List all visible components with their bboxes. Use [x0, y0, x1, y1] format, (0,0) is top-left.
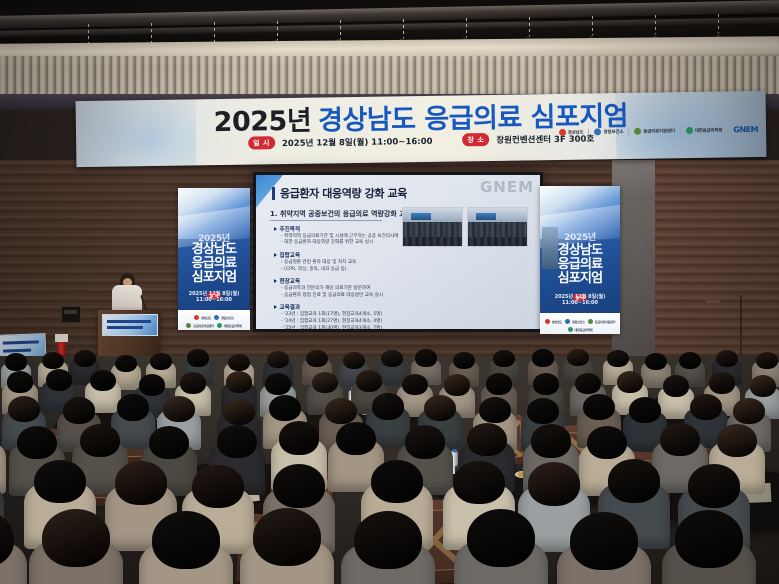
audience-member [557, 512, 651, 584]
logo-mark [594, 128, 601, 135]
slide-bullet-line: - '25년 : 집합교육 1회(30명), 현장교육3개소, 7명) [274, 326, 424, 329]
person-head [675, 510, 743, 568]
person-head [192, 465, 244, 509]
person-head [217, 425, 257, 458]
person-head [467, 509, 535, 567]
logo-mark [588, 319, 593, 324]
standee-date-right: 2025년 12월 8일(월) [540, 293, 620, 300]
person-head [372, 393, 404, 419]
training-photo-right [467, 207, 528, 247]
person-head [688, 464, 740, 508]
person-head [527, 398, 559, 424]
person-head [570, 512, 638, 570]
conference-photo: 2025년경상남도 응급의료 심포지엄 일 시 2025년 12월 8일(월) … [0, 0, 779, 584]
triangle-bullet-icon [274, 279, 277, 283]
person-head [453, 352, 475, 369]
standee-logos-left: 경상남도창원보건소응급의료지원센터대한응급의학회 [178, 315, 250, 328]
association-logo: 대한응급의학회 [686, 127, 723, 135]
person-head [356, 370, 382, 392]
slide-title-text: 응급환자 대응역량 강화 교육 [280, 185, 407, 201]
person-head [381, 350, 403, 367]
person-head [63, 397, 95, 423]
person-head [8, 396, 40, 422]
person-head [354, 511, 422, 569]
person-head [253, 508, 321, 566]
person-head [607, 350, 629, 367]
person-head [42, 509, 110, 567]
person-head [139, 374, 165, 396]
person-head [163, 396, 195, 422]
person-head [267, 351, 289, 368]
logo-separator [727, 126, 728, 133]
logo-mark [686, 127, 693, 134]
wall-control-panel[interactable] [61, 306, 81, 323]
person-head [444, 374, 470, 396]
person-head [279, 421, 319, 454]
slide-bullet-line: - 응급질환 관련 환자 대응 및 처치 교육 [274, 260, 424, 267]
triangle-bullet-icon [274, 253, 277, 257]
person-head [5, 353, 27, 370]
person-head [371, 460, 423, 504]
person-head [709, 372, 735, 394]
standee-logos-right: 경상남도창원보건소응급의료지원센터대한응급의학회 [540, 319, 620, 332]
logo-label: 경상남도 [201, 316, 211, 320]
standee-year-right: 2025년 [540, 230, 620, 243]
standee-health-center-logo: 창원보건소 [565, 319, 585, 324]
slide-title: 응급환자 대응역량 강화 교육 [272, 185, 407, 201]
slide-section-heading: 1. 취약지역 공중보건의 응급의료 역량강화 교육 [270, 209, 412, 219]
person-head [660, 423, 700, 456]
person-head [717, 424, 757, 457]
person-head [479, 397, 511, 423]
person-head [187, 349, 209, 366]
gnem-wordmark: GNEM [733, 125, 758, 134]
logo-mark [186, 323, 191, 328]
audience-member [29, 509, 123, 584]
logo-mark [634, 128, 641, 135]
person-head [575, 373, 601, 395]
audience-member [454, 509, 548, 584]
person-head [528, 462, 580, 506]
gnem-logo: GNEM [733, 125, 758, 134]
main-banner: 2025년경상남도 응급의료 심포지엄 일 시 2025년 12월 8일(월) … [76, 91, 767, 167]
slide-bullet-heading: 현장교육 [274, 277, 424, 285]
standee-medical-support-logo: 응급의료지원센터 [588, 319, 615, 324]
medical-support-logo: 응급의료지원센터 [634, 127, 675, 135]
logo-separator [588, 129, 589, 136]
person-head [424, 395, 456, 421]
banner-date-text: 2025년 12월 8일(월) 11:00~16:00 [282, 134, 433, 148]
person-head [312, 372, 338, 394]
person-head [34, 460, 86, 504]
triangle-bullet-icon [274, 305, 277, 309]
slide-heading-text: 집합교육 [280, 251, 301, 259]
person-head [750, 375, 776, 397]
presentation-slide: GNEM 응급환자 대응역량 강화 교육 1. 취약지역 공중보건의 응급의료 … [256, 175, 540, 329]
logo-label: 대한응급의학회 [695, 127, 723, 133]
logo-mark [194, 315, 199, 320]
banner-place-chip: 장 소 [462, 133, 489, 146]
door-handle [706, 300, 720, 303]
standee-left: 2025년 경상남도 응급의료 심포지엄 일 시 2025년 12월 8일(월)… [178, 188, 250, 330]
person-head [467, 423, 507, 456]
person-head [532, 349, 554, 366]
standee-association-logo: 대한응급의학회 [217, 323, 242, 328]
podium-signboard [102, 314, 158, 336]
standee-title-left: 경상남도 응급의료 심포지엄 [178, 243, 250, 285]
person-head [117, 394, 149, 420]
logo-label: 응급의료지원센터 [595, 320, 615, 324]
logo-label: 응급의료지원센터 [643, 128, 675, 134]
training-photo-left [402, 207, 463, 247]
person-head [587, 426, 627, 459]
logo-mark [568, 327, 573, 332]
banner-year: 2025년 [213, 106, 311, 138]
banner-date-chip: 일 시 [248, 136, 275, 149]
person-head [336, 422, 376, 455]
standee-gyeongnam-logo: 경상남도 [194, 315, 211, 320]
person-head [269, 395, 301, 421]
person-head [228, 354, 250, 371]
slide-bullet-heading: 집합교육 [274, 251, 424, 259]
person-head [679, 352, 701, 369]
door-edge [740, 295, 742, 357]
person-head [7, 371, 33, 393]
logo-separator [628, 128, 629, 135]
person-head [402, 374, 428, 396]
audience-member [662, 510, 756, 584]
person-head [90, 370, 116, 392]
logo-label: 대한응급의학회 [575, 328, 593, 332]
standee-date-left: 2025년 12월 8일(월) [178, 290, 250, 297]
person-head [583, 394, 615, 420]
logo-label: 경상남도 [568, 129, 584, 135]
logo-label: 대한응급의학회 [224, 324, 242, 328]
person-head [273, 464, 325, 508]
person-head [415, 349, 437, 366]
person-head [531, 424, 571, 457]
slide-bullet-line: - 응급환자 접점 진료 및 응급의료 대응방안 교육 실시 [274, 293, 424, 300]
slide-bullet-line: - (CPR, 외상, 중독, 내과 응급 등) [274, 267, 424, 274]
person-head [567, 349, 589, 366]
standee-right: 2025년 경상남도 응급의료 심포지엄 일 시 2025년 12월 8일(월)… [540, 186, 620, 334]
person-head [486, 373, 512, 395]
audience-member [139, 511, 233, 584]
fire-extinguisher-sign [55, 334, 68, 342]
standee-health-center-logo: 창원보건소 [214, 315, 234, 320]
person-head [733, 398, 765, 424]
slide-bullet-heading: 교육결과 [274, 303, 424, 311]
person-head [716, 350, 738, 367]
person-head [690, 394, 722, 420]
standee-line2-right: 응급의료 [540, 258, 620, 272]
person-head [180, 372, 206, 394]
logo-mark [565, 319, 570, 324]
logo-label: 응급의료지원센터 [193, 324, 213, 328]
person-head [629, 397, 661, 423]
logo-label: 창원보건소 [604, 129, 624, 135]
logo-label: 창원보건소 [572, 320, 585, 324]
person-head [223, 399, 255, 425]
person-head [149, 426, 189, 459]
person-head [152, 511, 220, 569]
gyeongnam-logo: 경상남도 [559, 129, 584, 136]
audience-member [0, 510, 27, 584]
person-head [150, 353, 172, 370]
projection-screen: GNEM 응급환자 대응역량 강화 교육 1. 취약지역 공중보건의 응급의료 … [253, 172, 543, 332]
person-head [17, 426, 57, 459]
person-head [343, 352, 365, 369]
person-head [42, 352, 64, 369]
standee-gyeongnam-logo: 경상남도 [545, 319, 562, 324]
logo-mark [217, 323, 222, 328]
slide-heading-text: 교육결과 [280, 303, 301, 311]
logo-label: 창원보건소 [221, 316, 234, 320]
slide-bullet-line: - 응급의학과 전문의가 해당 의료기관 방문하여 [274, 286, 424, 293]
logo-mark [545, 319, 550, 324]
standee-medical-support-logo: 응급의료지원센터 [186, 323, 213, 328]
person-head [405, 425, 445, 458]
slide-heading-text: 추진목적 [280, 225, 301, 233]
person-head [756, 352, 778, 369]
triangle-bullet-icon [274, 227, 277, 231]
person-head [265, 373, 291, 395]
wall-wood-right [655, 160, 779, 365]
standee-title-right: 경상남도 응급의료 심포지엄 [540, 244, 620, 286]
logo-mark [559, 129, 566, 136]
person-head [115, 461, 167, 505]
standee-line1-right: 경상남도 [540, 244, 620, 258]
person-head [493, 350, 515, 367]
person-head [608, 459, 660, 503]
gnem-watermark: GNEM [480, 178, 534, 196]
person-head [74, 350, 96, 367]
person-head [226, 371, 252, 393]
person-head [46, 369, 72, 391]
standee-association-logo: 대한응급의학회 [568, 327, 593, 332]
person-head [325, 398, 357, 424]
person-head [645, 353, 667, 370]
audience-member [240, 508, 334, 584]
audience-member [341, 511, 435, 584]
person-head [306, 350, 328, 367]
slide-title-bar [272, 187, 275, 200]
person-head [533, 373, 559, 395]
slide-heading-text: 현장교육 [280, 277, 301, 285]
person-head [80, 424, 120, 457]
person-head [617, 371, 643, 393]
logo-mark [214, 315, 219, 320]
person-head [453, 461, 505, 505]
health-center-logo: 창원보건소 [594, 128, 623, 135]
logo-label: 경상남도 [552, 320, 562, 324]
logo-separator [680, 127, 681, 134]
